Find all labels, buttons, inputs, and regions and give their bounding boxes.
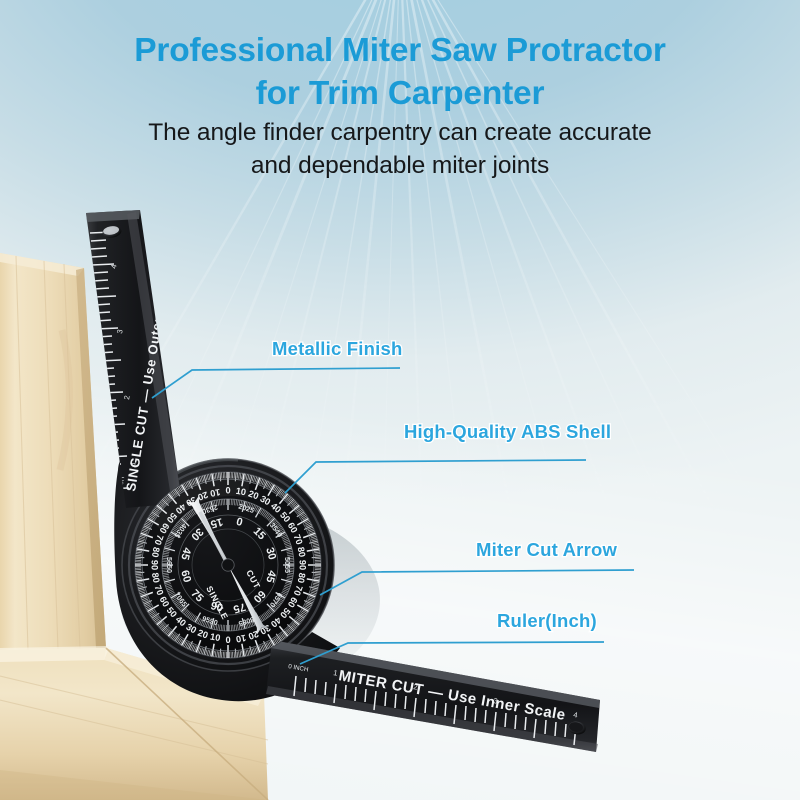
page-subtitle-line-1: The angle finder carpentry can create ac… [0, 117, 800, 150]
svg-text:90: 90 [298, 560, 308, 570]
svg-text:10: 10 [235, 633, 247, 645]
callout-label-abs-shell: High-Quality ABS Shell [404, 421, 611, 443]
svg-text:5650: 5650 [165, 557, 174, 573]
svg-text:80: 80 [150, 546, 162, 558]
protractor-vertical-arm: 4 3 2 1 0 INCH SINGLE CUT — Use Outer Sc… [86, 210, 182, 508]
svg-text:80: 80 [296, 572, 308, 584]
svg-text:90: 90 [150, 560, 160, 570]
callout-label-metallic-finish: Metallic Finish [272, 338, 402, 360]
wood-vertical-rail [0, 253, 106, 650]
callout-label-ruler-inch: Ruler(Inch) [497, 610, 597, 632]
callout-label-miter-cut-arrow: Miter Cut Arrow [476, 539, 617, 561]
page-subtitle: The angle finder carpentry can create ac… [0, 117, 800, 182]
page-title: Professional Miter Saw Protractor for Tr… [0, 29, 800, 115]
protractor-dial: 0102030405060708090807060504030201001020… [135, 472, 321, 658]
product-image-canvas: 4 3 2 1 0 INCH SINGLE CUT — Use Outer Sc… [0, 0, 800, 800]
svg-text:5055: 5055 [283, 557, 292, 573]
svg-text:80: 80 [296, 546, 308, 558]
svg-text:0: 0 [225, 635, 230, 645]
svg-text:80: 80 [150, 572, 162, 584]
svg-text:10: 10 [209, 632, 221, 644]
protractor-horizontal-arm: 1 2 3 4 0 INCH MITER CUT — Use Inner Sca… [266, 640, 600, 752]
page-title-line-2: for Trim Carpenter [0, 72, 800, 115]
page-title-line-1: Professional Miter Saw Protractor [0, 29, 800, 72]
page-subtitle-line-2: and dependable miter joints [0, 150, 800, 183]
